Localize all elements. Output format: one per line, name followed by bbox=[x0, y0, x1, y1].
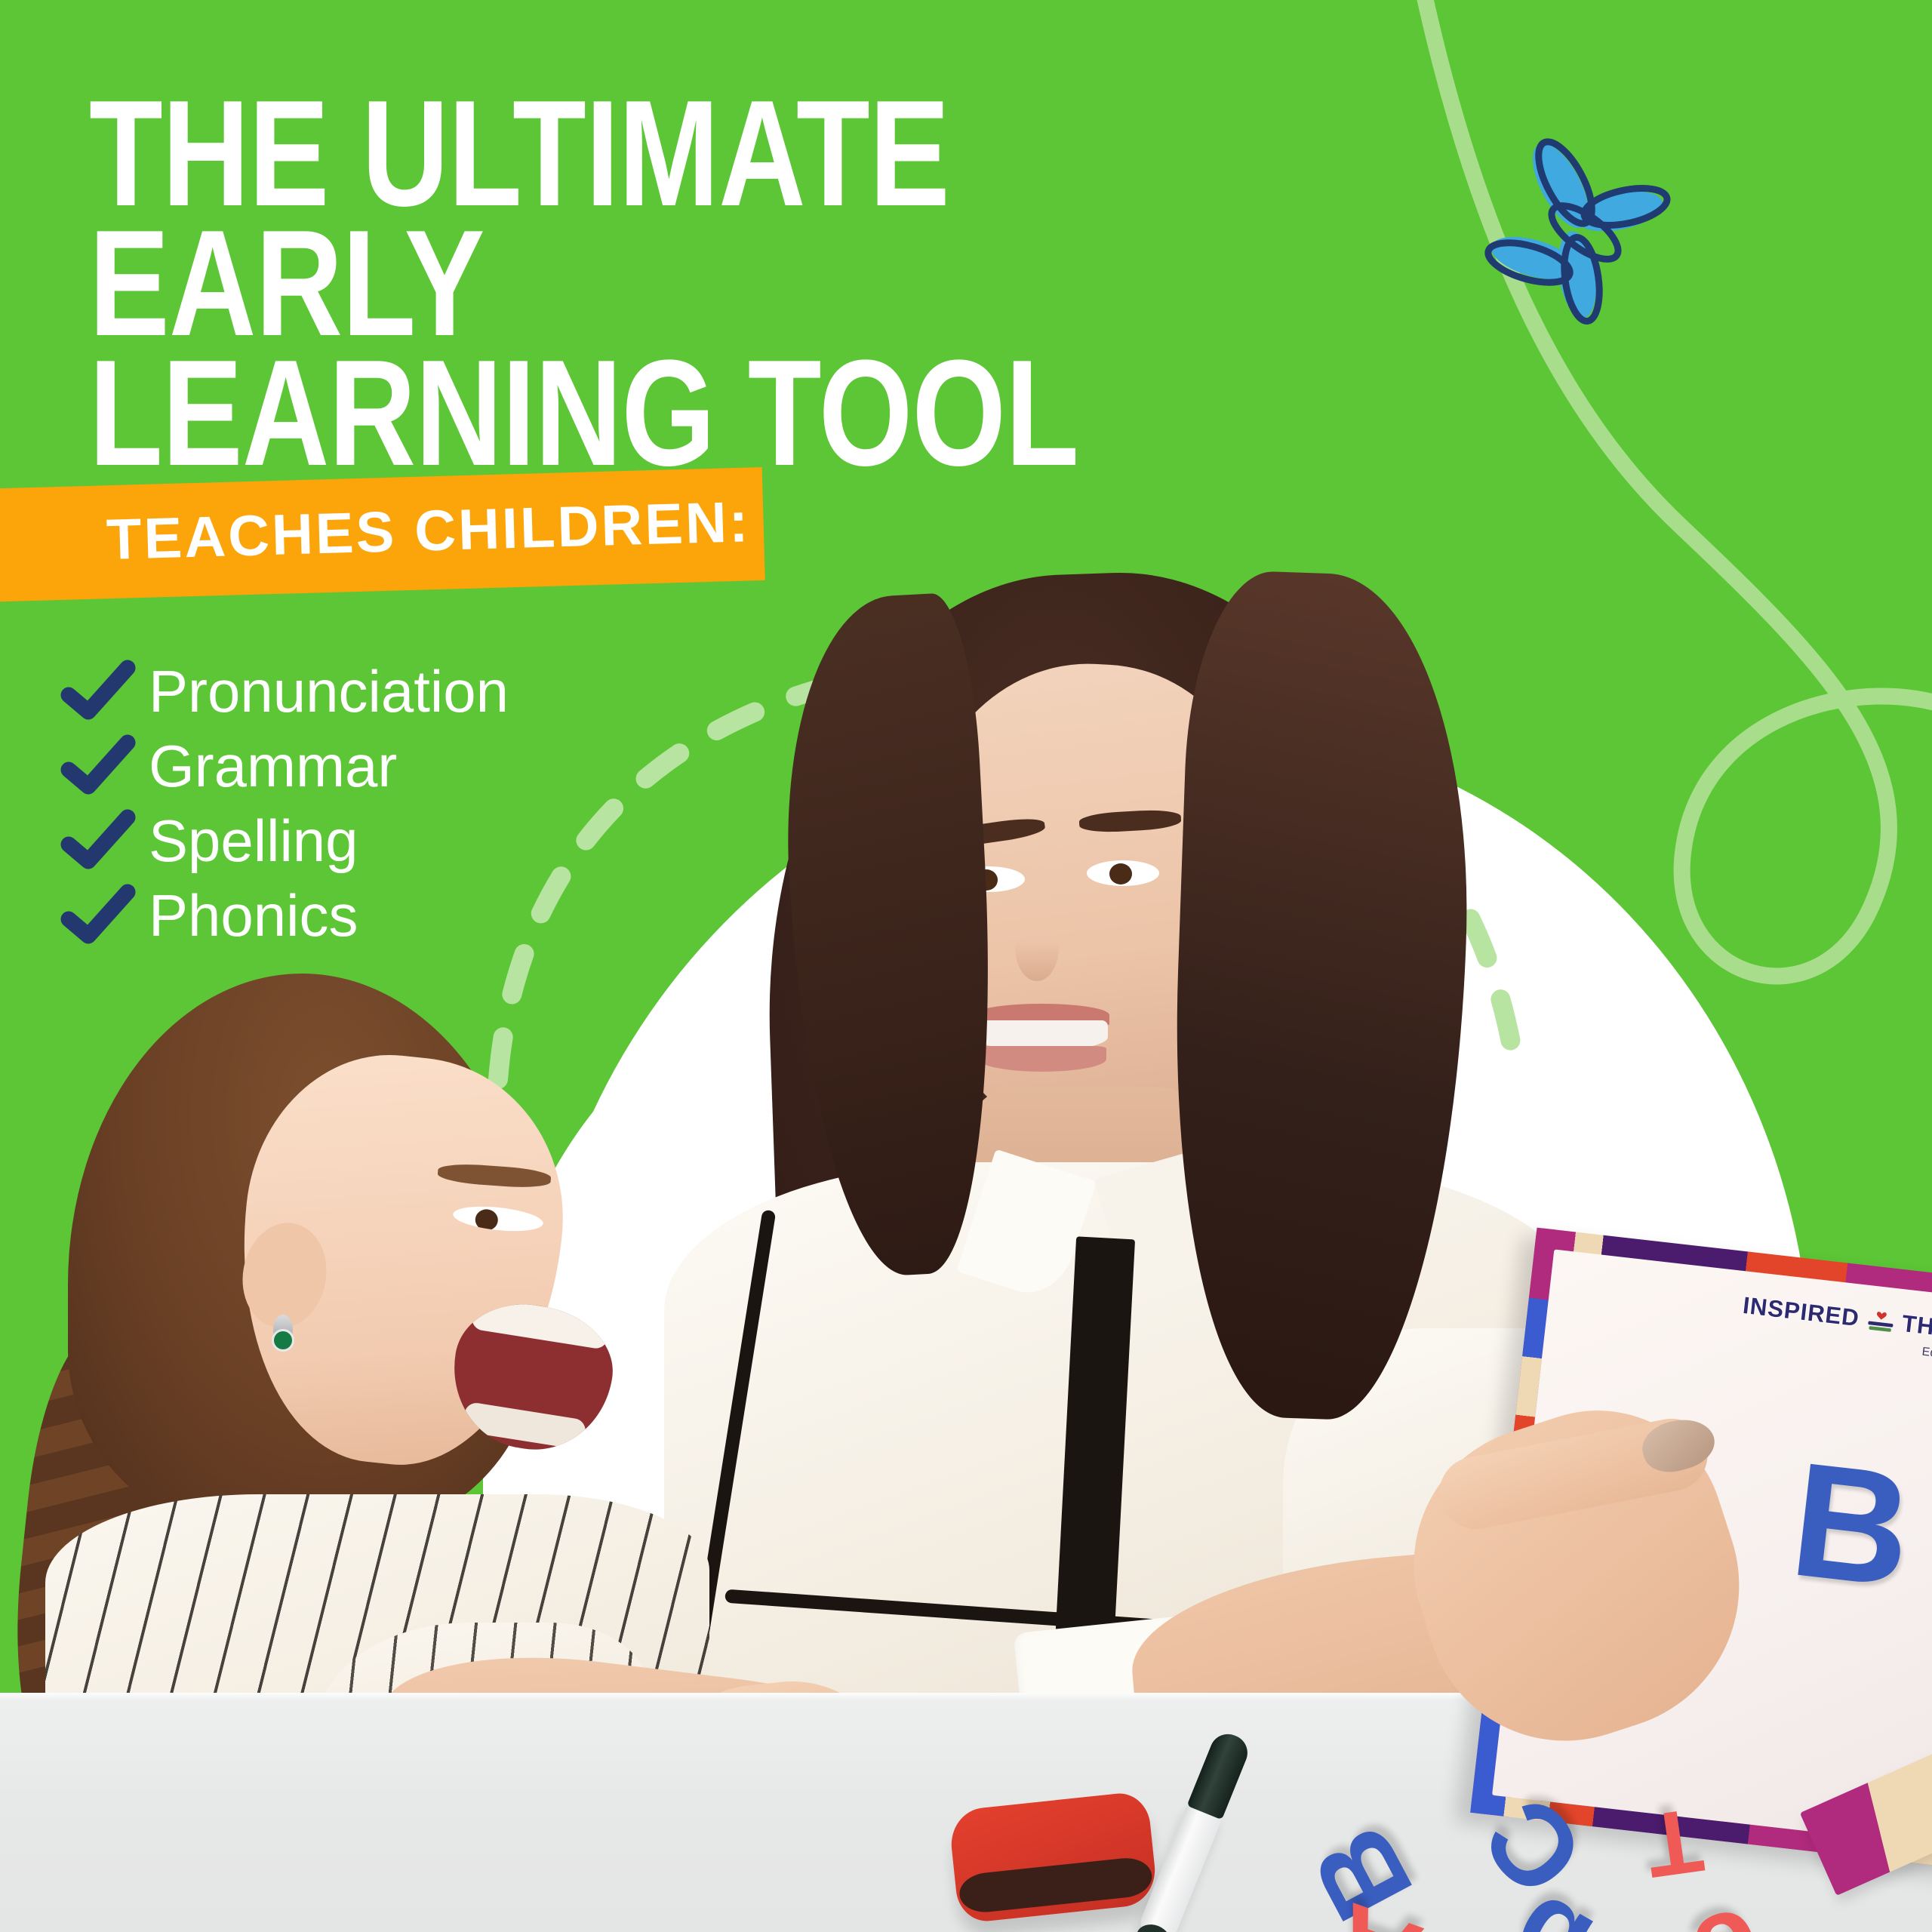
child-earring bbox=[273, 1315, 293, 1345]
teacher-nose bbox=[1015, 913, 1059, 981]
logo-tagline: Educational Products bbox=[1921, 1345, 1932, 1372]
feature-checklist: Pronunciation Grammar Spelling bbox=[57, 654, 509, 952]
list-item: Phonics bbox=[57, 878, 509, 952]
check-icon bbox=[57, 808, 140, 873]
list-item-label: Grammar bbox=[149, 737, 397, 795]
list-item: Spelling bbox=[57, 803, 509, 878]
page-title: THE ULTIMATE EARLY LEARNING TOOL bbox=[89, 89, 1176, 478]
list-item: Grammar bbox=[57, 728, 509, 803]
list-item-label: Spelling bbox=[149, 811, 358, 870]
whiteboard-eraser[interactable] bbox=[948, 1791, 1158, 1924]
check-icon bbox=[57, 883, 140, 948]
magnet-letter-b[interactable]: B bbox=[1786, 1452, 1917, 1598]
teacher-eye-right bbox=[1087, 860, 1159, 886]
list-item-label: Phonics bbox=[149, 886, 358, 945]
teacher-lower-lip bbox=[978, 1046, 1106, 1072]
list-item: Pronunciation bbox=[57, 654, 509, 728]
promo-image-canvas: INSPIRED THINKERS ™ Educational Products… bbox=[0, 0, 1932, 1932]
check-icon bbox=[57, 734, 140, 798]
logo-word-inspired: INSPIRED bbox=[1741, 1292, 1860, 1332]
brand-logo: INSPIRED THINKERS ™ Educational Products bbox=[1741, 1292, 1932, 1353]
dragonfly-doodle-icon bbox=[1472, 113, 1698, 340]
list-item-label: Pronunciation bbox=[149, 662, 509, 721]
check-icon bbox=[57, 659, 140, 724]
stacked-books-with-heart-icon bbox=[1864, 1309, 1896, 1336]
